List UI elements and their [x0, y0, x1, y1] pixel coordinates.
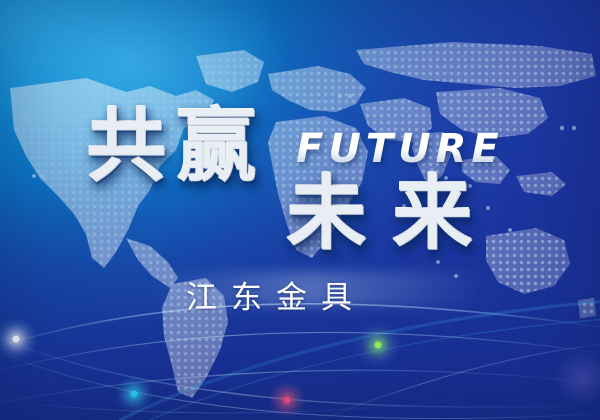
headline-cjk-secondary: 未来 — [286, 166, 498, 259]
headline-line-2: 未来 — [286, 176, 498, 250]
banner-image: 共赢 FUTURE 未来 江东金具 — [0, 0, 600, 420]
headline-english-future: FUTURE — [296, 126, 504, 172]
headline-content: 共赢 FUTURE 未来 江东金具 — [0, 0, 600, 420]
company-name-subtitle: 江东金具 — [186, 272, 366, 317]
headline-cjk-primary: 共赢 — [86, 108, 266, 182]
